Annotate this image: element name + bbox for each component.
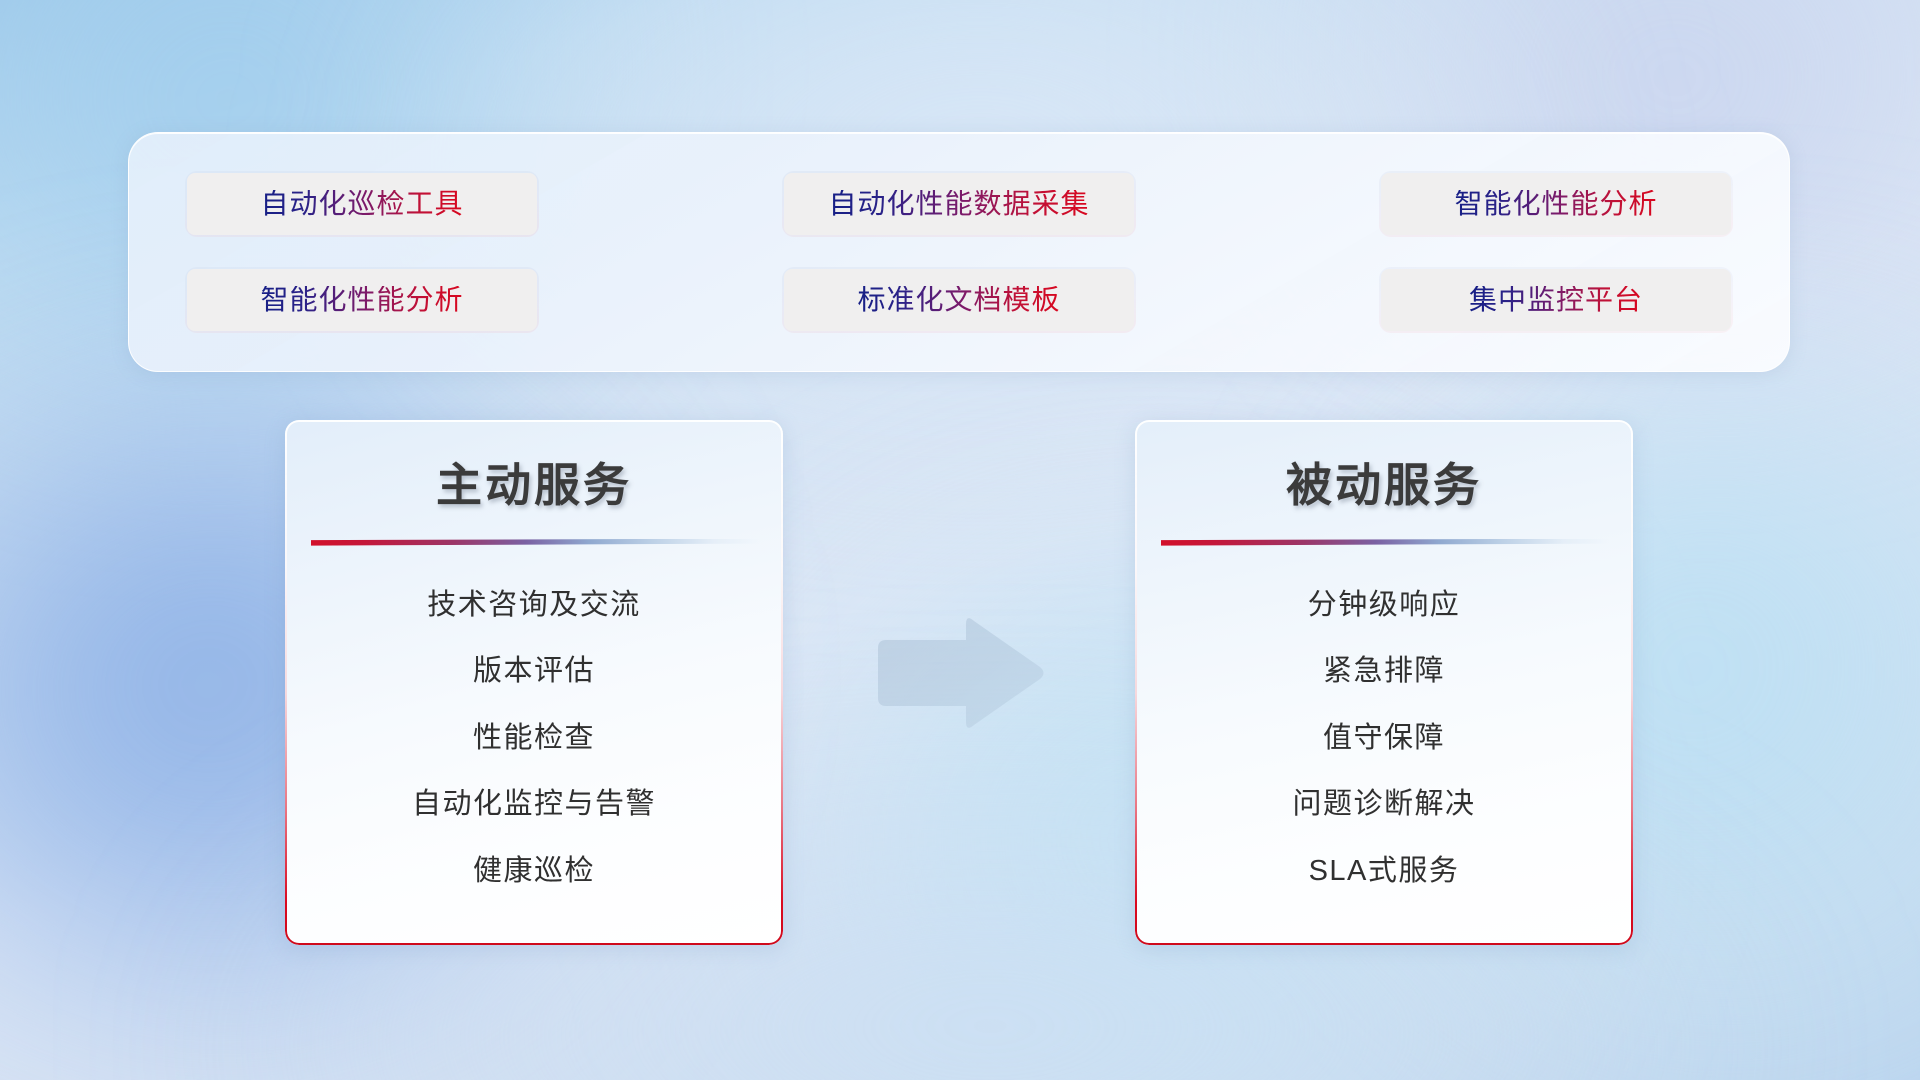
card-title-reactive: 被动服务 (1286, 460, 1482, 511)
capability-tag-centralized-monitoring-platform[interactable]: 集中监控平台 (1379, 267, 1733, 333)
capability-tag-intelligent-performance-analysis-2[interactable]: 智能化性能分析 (185, 267, 539, 333)
list-item: 值守保障 (1323, 724, 1445, 753)
card-divider-bar (1161, 539, 1609, 546)
card-divider-bar (311, 539, 759, 546)
capability-tag-label: 智能化性能分析 (260, 286, 463, 314)
list-item: 分钟级响应 (1308, 591, 1461, 620)
capability-tag-label: 智能化性能分析 (1454, 190, 1657, 218)
service-card-proactive: 主动服务 技术咨询及交流 版本评估 性能检查 自动化监控与告警 健康巡检 (285, 420, 783, 945)
capability-tag-automated-performance-collection[interactable]: 自动化性能数据采集 (782, 171, 1136, 237)
list-item: 健康巡检 (473, 857, 595, 886)
capability-tag-panel: 自动化巡检工具 自动化性能数据采集 智能化性能分析 智能化性能分析 标准化文档模… (128, 132, 1790, 372)
service-list-reactive: 分钟级响应 紧急排障 值守保障 问题诊断解决 SLA式服务 (1161, 554, 1607, 923)
service-card-reactive: 被动服务 分钟级响应 紧急排障 值守保障 问题诊断解决 SLA式服务 (1135, 420, 1633, 945)
list-item: 版本评估 (473, 657, 595, 686)
card-divider-proactive (311, 537, 757, 546)
list-item: 自动化监控与告警 (412, 790, 656, 819)
service-list-proactive: 技术咨询及交流 版本评估 性能检查 自动化监控与告警 健康巡检 (311, 554, 757, 923)
card-divider-reactive (1161, 537, 1607, 546)
list-item: 紧急排障 (1323, 657, 1445, 686)
capability-tag-intelligent-performance-analysis[interactable]: 智能化性能分析 (1379, 171, 1733, 237)
list-item: 性能检查 (473, 724, 595, 753)
capability-tag-row-2: 智能化性能分析 标准化文档模板 集中监控平台 (185, 267, 1733, 333)
capability-tag-standard-doc-template[interactable]: 标准化文档模板 (782, 267, 1136, 333)
capability-tag-row-1: 自动化巡检工具 自动化性能数据采集 智能化性能分析 (185, 171, 1733, 237)
list-item: 技术咨询及交流 (427, 591, 641, 620)
list-item: 问题诊断解决 (1292, 790, 1475, 819)
flow-arrow-right-icon (870, 612, 1050, 734)
capability-tag-automated-inspection-tool[interactable]: 自动化巡检工具 (185, 171, 539, 237)
list-item: SLA式服务 (1309, 857, 1460, 886)
capability-tag-label: 集中监控平台 (1469, 286, 1643, 314)
capability-tag-label: 自动化巡检工具 (260, 190, 463, 218)
capability-tag-label: 标准化文档模板 (857, 286, 1060, 314)
capability-tag-label: 自动化性能数据采集 (828, 190, 1089, 218)
slide-stage: 自动化巡检工具 自动化性能数据采集 智能化性能分析 智能化性能分析 标准化文档模… (0, 0, 1920, 1080)
card-title-proactive: 主动服务 (436, 460, 632, 511)
